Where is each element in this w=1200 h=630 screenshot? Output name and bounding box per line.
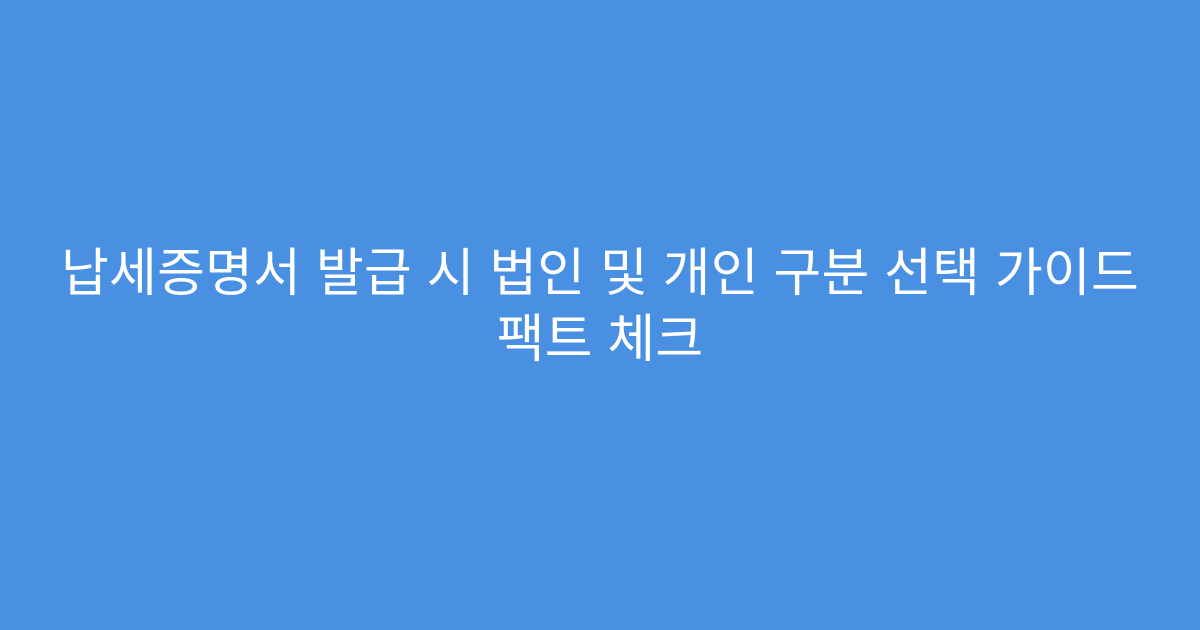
title-block: 납세증명서 발급 시 법인 및 개인 구분 선택 가이드 팩트 체크 <box>60 241 1140 373</box>
page-title: 납세증명서 발급 시 법인 및 개인 구분 선택 가이드 팩트 체크 <box>60 241 1140 373</box>
og-banner-card: 납세증명서 발급 시 법인 및 개인 구분 선택 가이드 팩트 체크 <box>0 0 1200 630</box>
